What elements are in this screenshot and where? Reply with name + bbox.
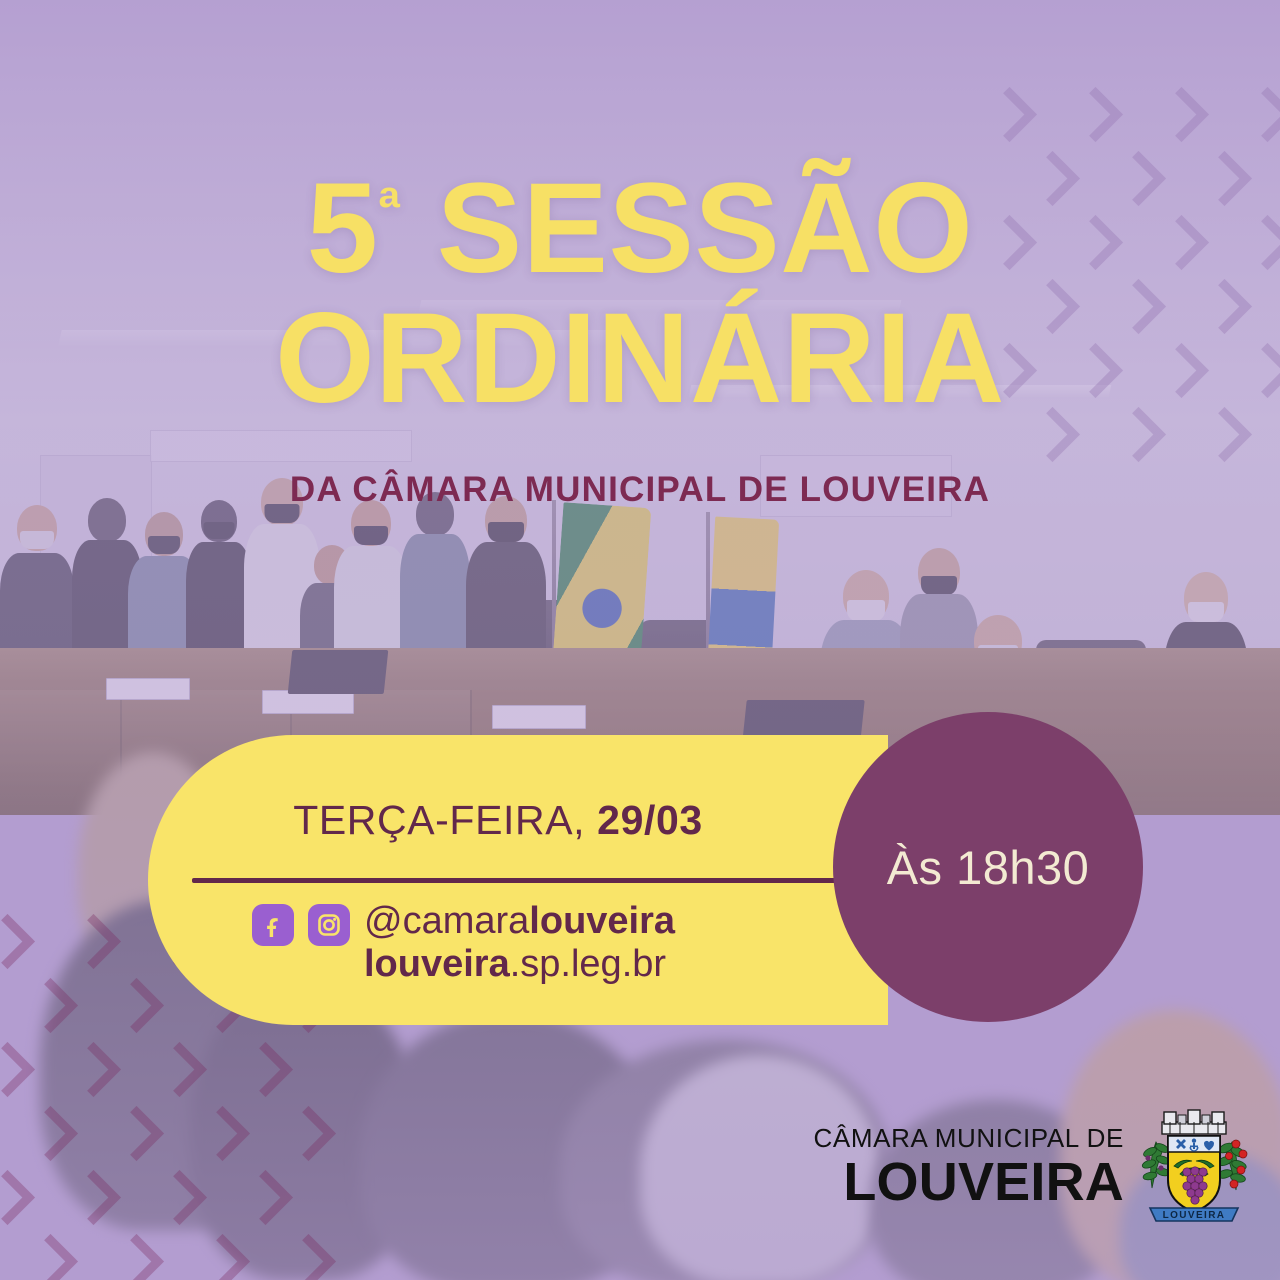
footer-org-line-2: LOUVEIRA [814,1155,1124,1209]
footer-logo: CÂMARA MUNICIPAL DE LOUVEIRA [814,1108,1248,1226]
event-date-row: TERÇA-FEIRA, 29/03 [148,797,848,844]
poster-canvas: 5ª SESSÃO ORDINÁRIA DA CÂMARA MUNICIPAL … [0,0,1280,1280]
website-line[interactable]: louveira.sp.leg.br [364,943,666,985]
website-domain: .sp.leg.br [510,943,666,985]
crest-ribbon-text: LOUVEIRA [1163,1210,1226,1221]
event-info-banner: TERÇA-FEIRA, 29/03 @camaralouveira louve… [148,735,888,1025]
poster-headline: 5ª SESSÃO ORDINÁRIA [0,170,1280,418]
website-name: louveira [364,943,510,985]
headline-line-1: 5ª SESSÃO [0,170,1280,288]
headline-line-2: ORDINÁRIA [0,300,1280,418]
event-weekday: TERÇA-FEIRA, [293,797,585,843]
facebook-icon[interactable] [252,904,294,946]
louveira-coat-of-arms-icon: LOUVEIRA [1140,1108,1248,1226]
event-time-label: Às 18h30 [887,840,1090,895]
event-time-badge: Às 18h30 [833,712,1143,1022]
handle-prefix: @camara [364,900,529,942]
instagram-icon[interactable] [308,904,350,946]
social-handles: @camaralouveira louveira.sp.leg.br [364,900,675,985]
social-links-row: @camaralouveira louveira.sp.leg.br [252,900,675,985]
banner-divider [192,878,888,883]
handle-suffix: louveira [529,900,675,942]
footer-logo-text: CÂMARA MUNICIPAL DE LOUVEIRA [814,1125,1124,1209]
poster-subtitle: DA CÂMARA MUNICIPAL DE LOUVEIRA [0,470,1280,510]
headline-word-sessao: SESSÃO [437,157,974,300]
instagram-handle-line: @camaralouveira [364,900,675,942]
session-number: 5 [307,157,379,300]
footer-org-line-1: CÂMARA MUNICIPAL DE [814,1125,1124,1151]
ordinal-indicator: ª [378,176,400,241]
event-date: 29/03 [597,797,703,843]
